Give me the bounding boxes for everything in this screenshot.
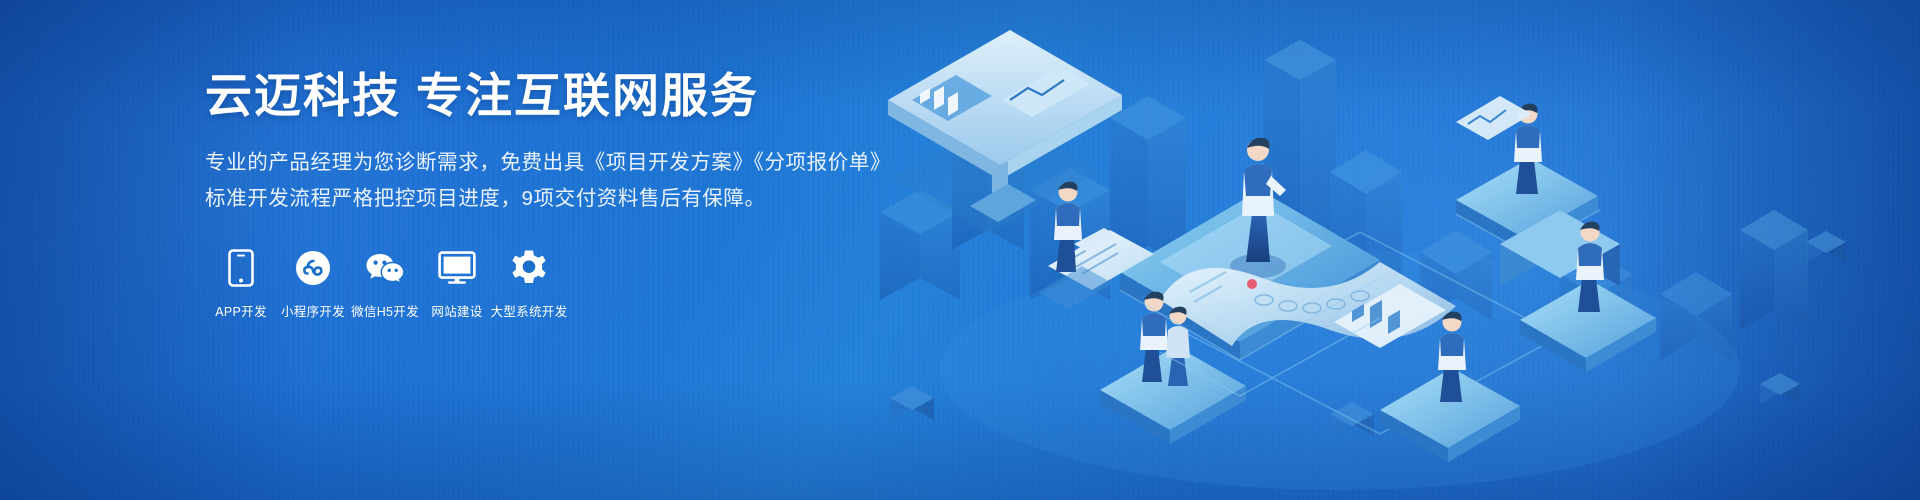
monitor-icon	[437, 248, 477, 288]
mobile-phone-icon	[221, 248, 261, 288]
banner-content: 云迈科技 专注互联网服务 专业的产品经理为您诊断需求，免费出具《项目开发方案》《…	[205, 70, 905, 320]
service-list: APP开发 小程序开发	[205, 248, 905, 320]
service-item-app[interactable]: APP开发	[205, 248, 277, 320]
service-item-system[interactable]: 大型系统开发	[493, 248, 565, 320]
service-item-website[interactable]: 网站建设	[421, 248, 493, 320]
service-label: 小程序开发	[281, 301, 345, 320]
service-label: 微信H5开发	[351, 301, 419, 320]
wechat-icon	[365, 248, 405, 288]
promo-banner: 云迈科技 专注互联网服务 专业的产品经理为您诊断需求，免费出具《项目开发方案》《…	[0, 0, 1920, 500]
isometric-team-dashboard-illustration	[860, 0, 1920, 500]
gear-icon	[509, 248, 549, 288]
service-item-wechat[interactable]: 微信H5开发	[349, 248, 421, 320]
banner-subtitle: 专业的产品经理为您诊断需求，免费出具《项目开发方案》《分项报价单》 标准开发流程…	[205, 145, 905, 218]
service-item-miniprogram[interactable]: 小程序开发	[277, 248, 349, 320]
subtitle-line-2: 标准开发流程严格把控项目进度，9项交付资料售后有保障。	[205, 181, 905, 217]
illustration-container	[860, 0, 1920, 500]
subtitle-line-1: 专业的产品经理为您诊断需求，免费出具《项目开发方案》《分项报价单》	[205, 151, 891, 174]
service-label: 网站建设	[431, 301, 482, 320]
service-label: APP开发	[215, 301, 267, 320]
service-label: 大型系统开发	[491, 301, 568, 320]
page-title: 云迈科技 专注互联网服务	[205, 70, 905, 123]
mini-program-icon	[293, 248, 333, 288]
